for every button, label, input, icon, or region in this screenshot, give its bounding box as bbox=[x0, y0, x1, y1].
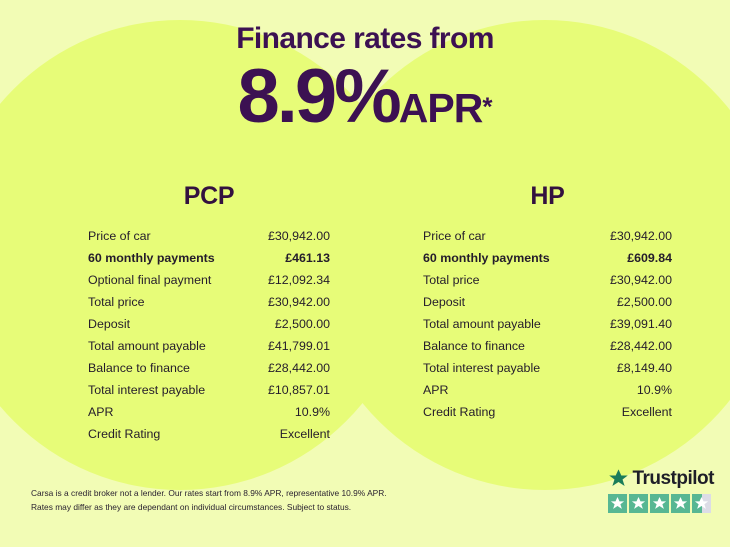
table-row: Total amount payable £39,091.40 bbox=[423, 313, 672, 335]
row-value: £2,500.00 bbox=[250, 313, 330, 335]
rate-unit: APR bbox=[399, 85, 483, 131]
row-label: Deposit bbox=[423, 291, 590, 313]
row-value: £10,857.01 bbox=[250, 379, 330, 401]
trustpilot-label: Trustpilot bbox=[632, 469, 714, 488]
row-value: Excellent bbox=[250, 423, 330, 445]
table-row: 60 monthly payments £461.13 bbox=[88, 247, 330, 269]
disclaimer: Carsa is a credit broker not a lender. O… bbox=[31, 487, 387, 515]
column-title-pcp: PCP bbox=[88, 182, 330, 211]
row-label: 60 monthly payments bbox=[88, 247, 250, 269]
finance-table-hp: Price of car £30,942.00 60 monthly payme… bbox=[423, 225, 672, 423]
star-icon bbox=[652, 496, 667, 511]
banner-header: Finance rates from 8.9%APR* bbox=[0, 0, 730, 135]
table-row: Total price £30,942.00 bbox=[88, 291, 330, 313]
row-value: £28,442.00 bbox=[250, 357, 330, 379]
row-value: £39,091.40 bbox=[590, 313, 672, 335]
row-value: £30,942.00 bbox=[250, 225, 330, 247]
row-label: Total interest payable bbox=[423, 357, 590, 379]
row-value: £461.13 bbox=[250, 247, 330, 269]
rating-star-1 bbox=[608, 494, 627, 513]
table-row: Total amount payable £41,799.01 bbox=[88, 335, 330, 357]
row-value: £12,092.34 bbox=[250, 269, 330, 291]
rating-star-4 bbox=[671, 494, 690, 513]
table-row: Credit Rating Excellent bbox=[423, 401, 672, 423]
row-label: Balance to finance bbox=[423, 335, 590, 357]
table-row: Total price £30,942.00 bbox=[423, 269, 672, 291]
page-title: Finance rates from bbox=[0, 0, 730, 55]
finance-comparison: PCP Price of car £30,942.00 60 monthly p… bbox=[0, 182, 730, 445]
rating-star-2 bbox=[629, 494, 648, 513]
finance-table-pcp: Price of car £30,942.00 60 monthly payme… bbox=[88, 225, 330, 445]
row-value: £30,942.00 bbox=[590, 225, 672, 247]
rate-value: 8.9% bbox=[238, 54, 399, 139]
row-value: 10.9% bbox=[590, 379, 672, 401]
star-icon bbox=[608, 468, 629, 489]
table-row: APR 10.9% bbox=[88, 401, 330, 423]
table-row: APR 10.9% bbox=[423, 379, 672, 401]
row-label: Total price bbox=[88, 291, 250, 313]
row-label: Deposit bbox=[88, 313, 250, 335]
row-label: Credit Rating bbox=[423, 401, 590, 423]
disclaimer-line-1: Carsa is a credit broker not a lender. O… bbox=[31, 487, 387, 501]
row-value: £8,149.40 bbox=[590, 357, 672, 379]
row-value: £41,799.01 bbox=[250, 335, 330, 357]
row-value: £30,942.00 bbox=[250, 291, 330, 313]
row-label: Total amount payable bbox=[88, 335, 250, 357]
trustpilot-rating bbox=[608, 494, 714, 513]
row-label: Optional final payment bbox=[88, 269, 250, 291]
table-row: Balance to finance £28,442.00 bbox=[423, 335, 672, 357]
star-icon bbox=[694, 496, 709, 511]
trustpilot-badge[interactable]: Trustpilot bbox=[608, 466, 714, 513]
finance-column-hp: HP Price of car £30,942.00 60 monthly pa… bbox=[365, 182, 730, 445]
row-label: APR bbox=[423, 379, 590, 401]
table-row: Price of car £30,942.00 bbox=[88, 225, 330, 247]
rate-headline: 8.9%APR* bbox=[0, 55, 730, 135]
row-label: Total amount payable bbox=[423, 313, 590, 335]
table-row: Total interest payable £10,857.01 bbox=[88, 379, 330, 401]
row-label: Price of car bbox=[88, 225, 250, 247]
row-value: £2,500.00 bbox=[590, 291, 672, 313]
row-label: Balance to finance bbox=[88, 357, 250, 379]
row-label: APR bbox=[88, 401, 250, 423]
column-title-hp: HP bbox=[423, 182, 672, 211]
row-label: Total price bbox=[423, 269, 590, 291]
table-row: Price of car £30,942.00 bbox=[423, 225, 672, 247]
finance-column-pcp: PCP Price of car £30,942.00 60 monthly p… bbox=[0, 182, 365, 445]
table-row: Credit Rating Excellent bbox=[88, 423, 330, 445]
rating-star-3 bbox=[650, 494, 669, 513]
rating-star-5-half bbox=[692, 494, 711, 513]
row-value: Excellent bbox=[590, 401, 672, 423]
row-value: 10.9% bbox=[250, 401, 330, 423]
promo-banner: Finance rates from 8.9%APR* PCP Price of… bbox=[0, 0, 730, 547]
row-value: £609.84 bbox=[590, 247, 672, 269]
star-icon bbox=[631, 496, 646, 511]
row-label: Total interest payable bbox=[88, 379, 250, 401]
disclaimer-line-2: Rates may differ as they are dependant o… bbox=[31, 501, 387, 515]
table-row: Total interest payable £8,149.40 bbox=[423, 357, 672, 379]
table-row: Optional final payment £12,092.34 bbox=[88, 269, 330, 291]
star-icon bbox=[610, 496, 625, 511]
trustpilot-wordmark-row: Trustpilot bbox=[608, 466, 714, 490]
table-row: 60 monthly payments £609.84 bbox=[423, 247, 672, 269]
row-value: £30,942.00 bbox=[590, 269, 672, 291]
star-icon bbox=[673, 496, 688, 511]
table-row: Deposit £2,500.00 bbox=[423, 291, 672, 313]
rate-asterisk: * bbox=[482, 91, 492, 121]
row-label: Credit Rating bbox=[88, 423, 250, 445]
row-label: Price of car bbox=[423, 225, 590, 247]
row-value: £28,442.00 bbox=[590, 335, 672, 357]
row-label: 60 monthly payments bbox=[423, 247, 590, 269]
table-row: Balance to finance £28,442.00 bbox=[88, 357, 330, 379]
table-row: Deposit £2,500.00 bbox=[88, 313, 330, 335]
